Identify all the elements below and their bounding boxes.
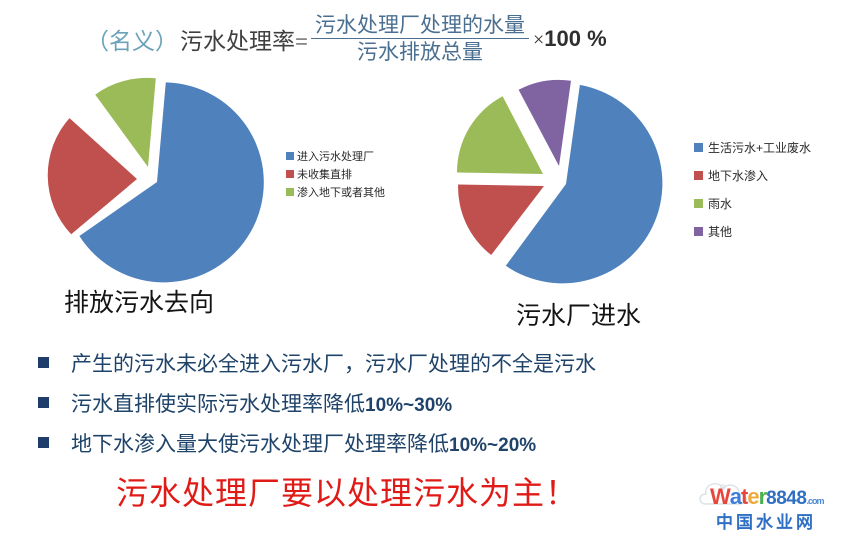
- list-item: 地下水渗入量大使污水处理厂处理率降低10%~20%: [38, 428, 738, 458]
- list-item: 污水直排使实际污水处理率降低10%~30%: [38, 388, 738, 418]
- legend-swatch-blue: [694, 143, 703, 152]
- watermark: Water8848.com 中国水业网: [694, 472, 844, 536]
- legend-left-chart: 进入污水处理厂 未收集直排 渗入地下或者其他: [286, 148, 385, 202]
- square-bullet-icon: [38, 437, 49, 448]
- list-item: 产生的污水未必全进入污水厂，污水厂处理的不全是污水: [38, 348, 738, 378]
- formula-numerator: 污水处理厂处理的水量: [311, 14, 529, 39]
- watermark-brand: Water8848.com: [710, 484, 823, 510]
- legend-label: 其他: [708, 223, 732, 240]
- formula-rate-label: 污水处理率=: [180, 22, 308, 56]
- conclusion-text: 污水处理厂要以处理污水为主！: [116, 468, 578, 514]
- bullet-text: 污水直排使实际污水处理率降低10%~30%: [71, 388, 452, 418]
- formula-nominal-label: （名义）: [86, 22, 178, 56]
- legend-item[interactable]: 未收集直排: [286, 166, 385, 182]
- legend-label: 雨水: [708, 195, 732, 212]
- watermark-chinese: 中国水业网: [716, 508, 816, 533]
- formula-percent: 100 %: [544, 26, 606, 51]
- pie-slice-domestic-industrial: [506, 85, 663, 283]
- legend-swatch-red: [286, 170, 294, 178]
- legend-label: 进入污水处理厂: [297, 148, 374, 164]
- legend-swatch-red: [694, 171, 703, 180]
- legend-swatch-green: [286, 188, 294, 196]
- bullet-text: 地下水渗入量大使污水处理厂处理率降低10%~20%: [71, 428, 536, 458]
- formula-fraction: 污水处理厂处理的水量 污水排放总量: [311, 14, 529, 64]
- formula-denominator: 污水排放总量: [357, 39, 483, 65]
- caption-left-chart: 排放污水去向: [64, 283, 214, 319]
- formula-title: （名义） 污水处理率= 污水处理厂处理的水量 污水排放总量 ×100 %: [86, 14, 607, 64]
- legend-item[interactable]: 进入污水处理厂: [286, 148, 385, 164]
- legend-label: 渗入地下或者其他: [297, 184, 385, 200]
- legend-swatch-green: [694, 199, 703, 208]
- pie-left-svg: [18, 58, 278, 288]
- watermark-number: 8848: [766, 488, 806, 510]
- watermark-letter: a: [730, 484, 741, 510]
- legend-swatch-purple: [694, 227, 703, 236]
- pie-right-svg: [428, 62, 690, 294]
- square-bullet-icon: [38, 397, 49, 408]
- legend-swatch-blue: [286, 152, 294, 160]
- multiply-sign: ×: [533, 29, 544, 51]
- bullet-emphasis: 10%~20%: [449, 435, 536, 456]
- bullet-emphasis: 10%~30%: [365, 395, 452, 416]
- square-bullet-icon: [38, 357, 49, 368]
- watermark-letter: W: [710, 484, 730, 510]
- legend-label: 地下水渗入: [708, 167, 768, 184]
- pie-chart-plant-influent: [428, 62, 690, 294]
- legend-label: 未收集直排: [297, 166, 352, 182]
- bullet-list: 产生的污水未必全进入污水厂，污水厂处理的不全是污水 污水直排使实际污水处理率降低…: [38, 348, 738, 468]
- legend-item[interactable]: 生活污水+工业废水: [694, 139, 811, 156]
- legend-right-chart: 生活污水+工业废水 地下水渗入 雨水 其他: [694, 139, 811, 251]
- legend-item[interactable]: 其他: [694, 223, 811, 240]
- formula-tail: ×100 %: [533, 26, 607, 52]
- pie-chart-discharge-destination: [18, 58, 278, 288]
- legend-item[interactable]: 渗入地下或者其他: [286, 184, 385, 200]
- watermark-letter: r: [759, 484, 767, 510]
- bullet-text: 产生的污水未必全进入污水厂，污水厂处理的不全是污水: [71, 348, 596, 378]
- caption-right-chart: 污水厂进水: [516, 296, 641, 332]
- legend-item[interactable]: 地下水渗入: [694, 167, 811, 184]
- watermark-dotcom: .com: [806, 496, 823, 506]
- legend-label: 生活污水+工业废水: [708, 139, 811, 156]
- legend-item[interactable]: 雨水: [694, 195, 811, 212]
- watermark-letter: e: [747, 484, 758, 510]
